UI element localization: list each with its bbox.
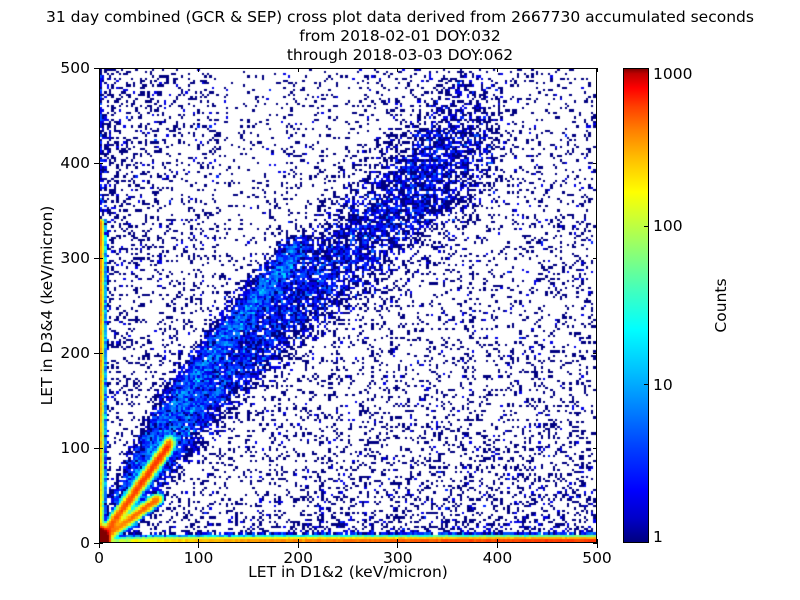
y-tick-in-500 (99, 68, 103, 69)
x-tick-top-400 (497, 68, 498, 72)
x-tick-top-500 (597, 68, 598, 72)
title-line-3: through 2018-03-03 DOY:062 (0, 46, 800, 65)
y-tick-in-100 (99, 448, 103, 449)
heatmap-canvas (100, 69, 596, 542)
figure-canvas: 31 day combined (GCR & SEP) cross plot d… (0, 0, 800, 600)
x-tick-in-400 (497, 539, 498, 543)
x-tick-top-100 (198, 68, 199, 72)
y-tick-in-0 (99, 543, 103, 544)
y-tick-right-200 (593, 353, 597, 354)
x-tick-top-300 (397, 68, 398, 72)
title-line-1: 31 day combined (GCR & SEP) cross plot d… (0, 8, 800, 27)
x-tick-200 (298, 543, 299, 548)
colorbar (623, 68, 649, 543)
y-tick-right-100 (593, 448, 597, 449)
title-line-2: from 2018-02-01 DOY:032 (0, 27, 800, 46)
x-tick-in-300 (397, 539, 398, 543)
colorbar-tick-label-1: 1 (653, 528, 663, 546)
colorbar-tick-label-100: 100 (653, 217, 683, 235)
colorbar-tick-100 (644, 226, 649, 227)
plot-area (99, 68, 597, 543)
y-tick-right-300 (593, 258, 597, 259)
y-tick-in-300 (99, 258, 103, 259)
x-tick-top-0 (99, 68, 100, 72)
x-tick-400 (497, 543, 498, 548)
colorbar-label: Counts (712, 68, 730, 543)
y-tick-right-400 (593, 163, 597, 164)
y-axis-label: LET in D3&4 (keV/micron) (38, 68, 56, 543)
x-tick-in-100 (198, 539, 199, 543)
x-tick-top-200 (298, 68, 299, 72)
x-tick-in-200 (298, 539, 299, 543)
colorbar-tick-10 (644, 384, 649, 385)
colorbar-tick-label-10: 10 (653, 376, 673, 394)
x-axis-label: LET in D1&2 (keV/micron) (99, 563, 597, 581)
y-tick-in-400 (99, 163, 103, 164)
y-tick-right-500 (593, 68, 597, 69)
y-tick-in-200 (99, 353, 103, 354)
x-tick-0 (99, 543, 100, 548)
x-tick-500 (597, 543, 598, 548)
x-tick-100 (198, 543, 199, 548)
y-tick-right-0 (593, 543, 597, 544)
page-title: 31 day combined (GCR & SEP) cross plot d… (0, 8, 800, 65)
colorbar-tick-label-1000: 1000 (653, 65, 692, 83)
x-tick-300 (397, 543, 398, 548)
